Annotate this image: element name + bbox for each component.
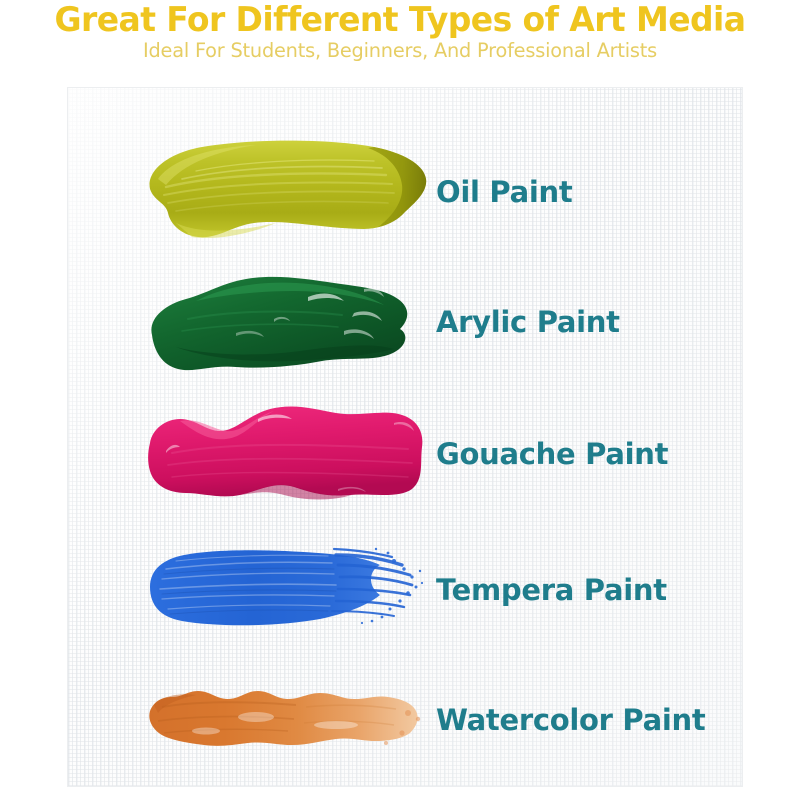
arylic-paint-label: Arylic Paint [436,305,620,339]
product-feature-graphic: Great For Different Types of Art Media I… [0,0,800,800]
page-title: Great For Different Types of Art Media [6,2,794,38]
swatch-row: Oil Paint [68,122,743,262]
header: Great For Different Types of Art Media I… [0,0,800,63]
tempera-paint-label: Tempera Paint [436,573,667,607]
swatch-row: Tempera Paint [68,520,743,660]
swatch-row: Watercolor Paint [68,650,743,787]
oil-paint-swatch [136,127,436,257]
tempera-paint-swatch [136,525,436,655]
canvas-card: Oil Paint [67,87,743,787]
swatch-row: Gouache Paint [68,384,743,524]
watercolor-paint-label: Watercolor Paint [436,703,705,737]
gouache-paint-swatch [136,389,436,519]
watercolor-paint-swatch [136,655,436,785]
gouache-paint-label: Gouache Paint [436,437,668,471]
oil-paint-label: Oil Paint [436,175,572,209]
arylic-paint-swatch [136,257,436,387]
swatch-row: Arylic Paint [68,252,743,392]
page-subtitle: Ideal For Students, Beginners, And Profe… [4,39,796,63]
